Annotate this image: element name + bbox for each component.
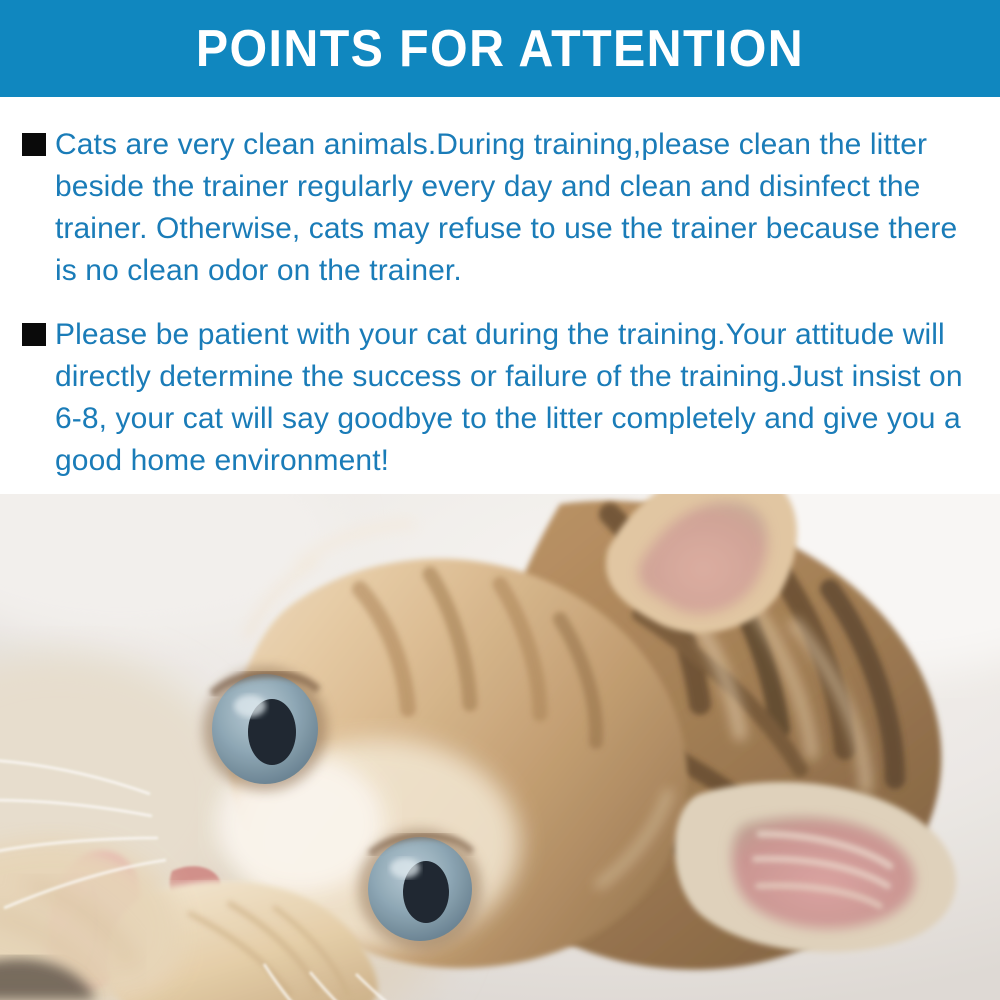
page-title: POINTS FOR ATTENTION xyxy=(196,23,804,75)
product-info-page: POINTS FOR ATTENTION Cats are very clean… xyxy=(0,0,1000,1000)
list-item: Please be patient with your cat during t… xyxy=(20,314,982,482)
square-bullet-icon xyxy=(22,323,46,346)
header-banner: POINTS FOR ATTENTION xyxy=(0,0,1000,97)
note-text: Please be patient with your cat during t… xyxy=(55,314,982,482)
list-item: Cats are very clean animals.During train… xyxy=(20,124,982,292)
square-bullet-icon xyxy=(22,133,46,156)
kitten-photo xyxy=(0,494,1000,1000)
attention-notes-list: Cats are very clean animals.During train… xyxy=(0,97,1000,494)
kitten-photo-illustration xyxy=(0,494,1000,1000)
note-text: Cats are very clean animals.During train… xyxy=(55,124,982,292)
